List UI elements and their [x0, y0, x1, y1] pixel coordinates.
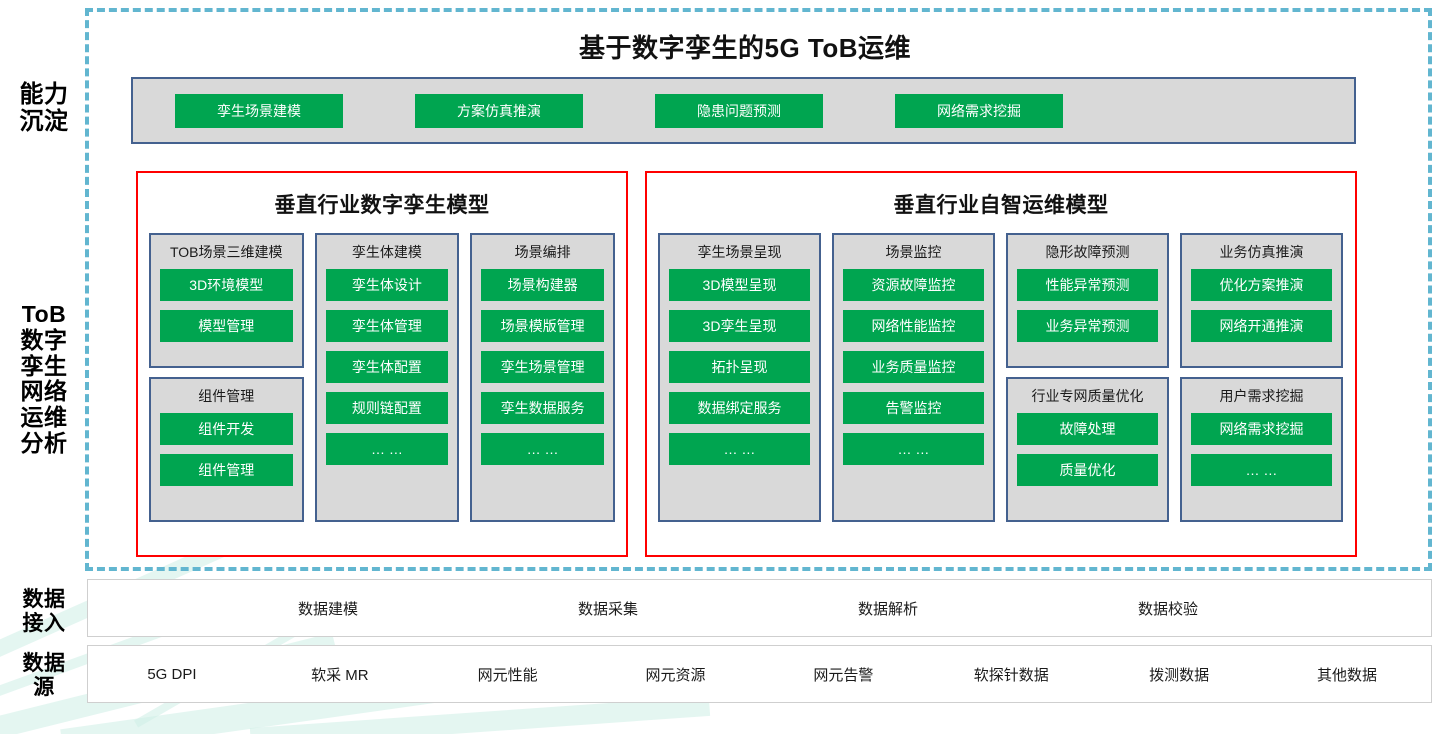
module-chip[interactable]: 规则链配置: [326, 392, 449, 424]
panel-column: 隐形故障预测性能异常预测业务异常预测行业专网质量优化故障处理质量优化: [1006, 233, 1169, 522]
panel-column: 孪生场景呈现3D模型呈现3D孪生呈现拓扑呈现数据绑定服务… …: [658, 233, 821, 522]
diagram-canvas: 能力沉淀 ToB数字孪生网络运维分析 数据接入 数据源 基于数字孪生的5G To…: [0, 0, 1438, 734]
group-title: 行业专网质量优化: [1017, 386, 1158, 406]
module-chip[interactable]: 场景构建器: [481, 269, 604, 301]
data-access-item[interactable]: 数据校验: [1028, 598, 1308, 619]
module-chip[interactable]: … …: [1191, 454, 1332, 486]
module-chip[interactable]: 业务质量监控: [843, 351, 984, 383]
data-source-row: 5G DPI软采 MR网元性能网元资源网元告警软探针数据拨测数据其他数据: [87, 645, 1432, 703]
data-access-item[interactable]: 数据解析: [748, 598, 1028, 619]
group-title: 用户需求挖掘: [1191, 386, 1332, 406]
group-title: 业务仿真推演: [1191, 242, 1332, 262]
module-chip[interactable]: 网络开通推演: [1191, 310, 1332, 342]
panel-column: 业务仿真推演优化方案推演网络开通推演用户需求挖掘网络需求挖掘… …: [1180, 233, 1343, 522]
group-box: 行业专网质量优化故障处理质量优化: [1006, 377, 1169, 522]
group-title: 孪生体建模: [326, 242, 449, 262]
data-access-item[interactable]: 数据建模: [188, 598, 468, 619]
module-chip[interactable]: 故障处理: [1017, 413, 1158, 445]
module-chip[interactable]: 质量优化: [1017, 454, 1158, 486]
module-chip[interactable]: 模型管理: [160, 310, 293, 342]
module-chip[interactable]: 网络性能监控: [843, 310, 984, 342]
module-chip[interactable]: 3D模型呈现: [669, 269, 810, 301]
capability-chip[interactable]: 网络需求挖掘: [895, 94, 1063, 128]
module-chip[interactable]: 拓扑呈现: [669, 351, 810, 383]
capability-chip[interactable]: 方案仿真推演: [415, 94, 583, 128]
panel-columns: 孪生场景呈现3D模型呈现3D孪生呈现拓扑呈现数据绑定服务… …场景监控资源故障监…: [647, 219, 1355, 522]
module-chip[interactable]: 业务异常预测: [1017, 310, 1158, 342]
module-chip[interactable]: 场景模版管理: [481, 310, 604, 342]
module-chip[interactable]: 孪生体管理: [326, 310, 449, 342]
group-box: 用户需求挖掘网络需求挖掘… …: [1180, 377, 1343, 522]
row-label-tob-digital-twin: ToB数字孪生网络运维分析: [8, 302, 80, 457]
data-source-item[interactable]: 5G DPI: [88, 666, 256, 683]
data-source-item[interactable]: 软采 MR: [256, 664, 424, 685]
module-chip[interactable]: 3D孪生呈现: [669, 310, 810, 342]
module-chip[interactable]: 优化方案推演: [1191, 269, 1332, 301]
data-source-item[interactable]: 软探针数据: [927, 664, 1095, 685]
module-chip[interactable]: 网络需求挖掘: [1191, 413, 1332, 445]
capability-chip[interactable]: 隐患问题预测: [655, 94, 823, 128]
group-title: 场景监控: [843, 242, 984, 262]
module-chip[interactable]: 孪生体设计: [326, 269, 449, 301]
module-chip[interactable]: … …: [326, 433, 449, 465]
module-chip[interactable]: … …: [481, 433, 604, 465]
module-chip[interactable]: 孪生体配置: [326, 351, 449, 383]
module-chip[interactable]: 组件开发: [160, 413, 293, 445]
panel-title: 垂直行业自智运维模型: [647, 189, 1355, 219]
data-access-row: 数据建模数据采集数据解析数据校验: [87, 579, 1432, 637]
panel-columns: TOB场景三维建模3D环境模型模型管理组件管理组件开发组件管理孪生体建模孪生体设…: [138, 219, 626, 522]
group-title: 组件管理: [160, 386, 293, 406]
group-box: 组件管理组件开发组件管理: [149, 377, 304, 522]
group-box: 场景编排场景构建器场景模版管理孪生场景管理孪生数据服务… …: [470, 233, 615, 522]
page-title: 基于数字孪生的5G ToB运维: [130, 28, 1360, 65]
module-chip[interactable]: 3D环境模型: [160, 269, 293, 301]
data-source-item[interactable]: 网元告警: [760, 664, 928, 685]
group-box: 隐形故障预测性能异常预测业务异常预测: [1006, 233, 1169, 368]
module-chip[interactable]: 组件管理: [160, 454, 293, 486]
module-chip[interactable]: 数据绑定服务: [669, 392, 810, 424]
module-chip[interactable]: 孪生场景管理: [481, 351, 604, 383]
group-box: TOB场景三维建模3D环境模型模型管理: [149, 233, 304, 368]
data-source-item[interactable]: 网元性能: [424, 664, 592, 685]
group-box: 业务仿真推演优化方案推演网络开通推演: [1180, 233, 1343, 368]
panel-column: 场景编排场景构建器场景模版管理孪生场景管理孪生数据服务… …: [470, 233, 615, 522]
group-box: 孪生体建模孪生体设计孪生体管理孪生体配置规则链配置… …: [315, 233, 460, 522]
panel-digital-twin-model: 垂直行业数字孪生模型TOB场景三维建模3D环境模型模型管理组件管理组件开发组件管…: [136, 171, 628, 557]
group-title: 孪生场景呈现: [669, 242, 810, 262]
panel-column: 孪生体建模孪生体设计孪生体管理孪生体配置规则链配置… …: [315, 233, 460, 522]
row-label-data-source: 数据源: [8, 652, 80, 699]
group-title: TOB场景三维建模: [160, 242, 293, 262]
group-box: 场景监控资源故障监控网络性能监控业务质量监控告警监控… …: [832, 233, 995, 522]
module-chip[interactable]: … …: [669, 433, 810, 465]
module-chip[interactable]: 孪生数据服务: [481, 392, 604, 424]
data-source-item[interactable]: 网元资源: [592, 664, 760, 685]
group-title: 场景编排: [481, 242, 604, 262]
data-source-item[interactable]: 其他数据: [1263, 664, 1431, 685]
data-access-item[interactable]: 数据采集: [468, 598, 748, 619]
group-box: 孪生场景呈现3D模型呈现3D孪生呈现拓扑呈现数据绑定服务… …: [658, 233, 821, 522]
row-label-data-access: 数据接入: [8, 588, 80, 635]
panel-title: 垂直行业数字孪生模型: [138, 189, 626, 219]
capability-strip: 孪生场景建模方案仿真推演隐患问题预测网络需求挖掘: [131, 77, 1356, 144]
data-source-item[interactable]: 拨测数据: [1095, 664, 1263, 685]
panel-column: 场景监控资源故障监控网络性能监控业务质量监控告警监控… …: [832, 233, 995, 522]
row-label-capability: 能力沉淀: [8, 82, 80, 136]
capability-chip[interactable]: 孪生场景建模: [175, 94, 343, 128]
module-chip[interactable]: 性能异常预测: [1017, 269, 1158, 301]
panel-autonomous-ops-model: 垂直行业自智运维模型孪生场景呈现3D模型呈现3D孪生呈现拓扑呈现数据绑定服务… …: [645, 171, 1357, 557]
module-chip[interactable]: 资源故障监控: [843, 269, 984, 301]
module-chip[interactable]: … …: [843, 433, 984, 465]
group-title: 隐形故障预测: [1017, 242, 1158, 262]
module-chip[interactable]: 告警监控: [843, 392, 984, 424]
panel-column: TOB场景三维建模3D环境模型模型管理组件管理组件开发组件管理: [149, 233, 304, 522]
